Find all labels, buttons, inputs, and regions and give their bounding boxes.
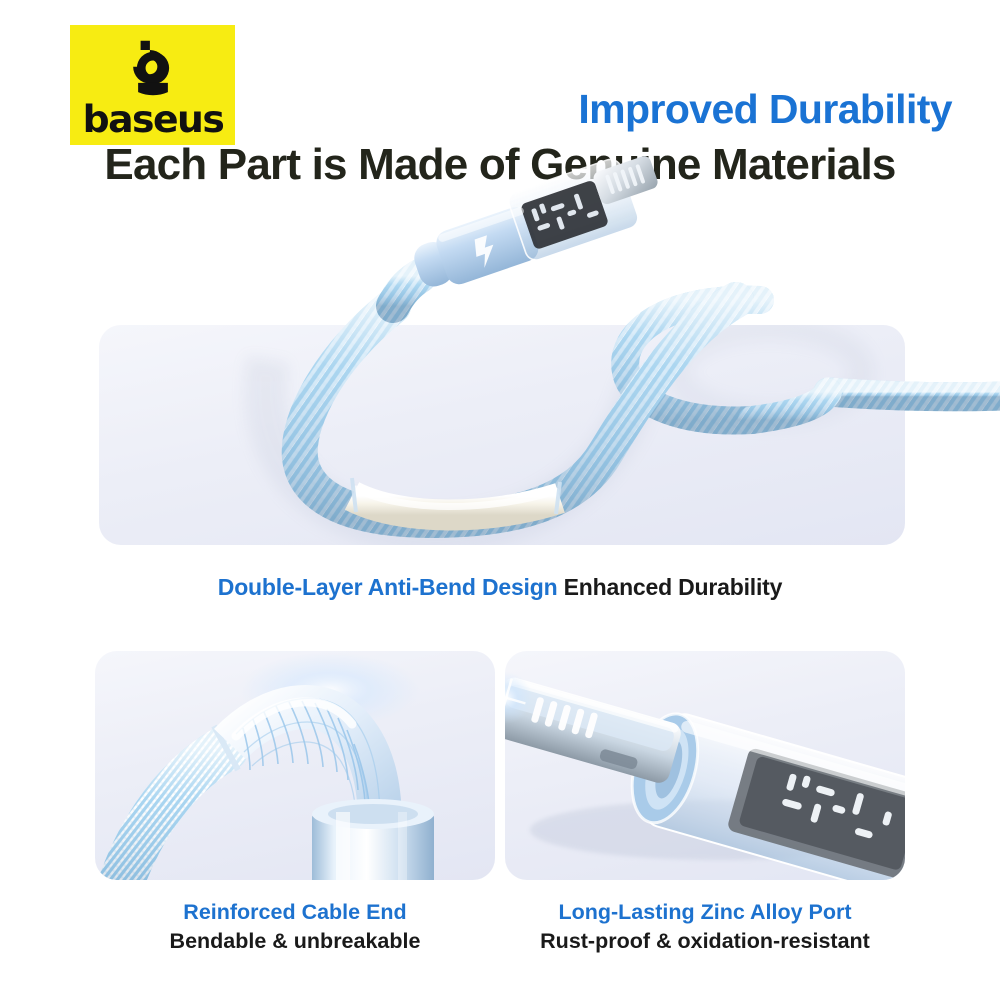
- double-layer-card: [99, 325, 905, 545]
- reinforced-end-card: [95, 651, 495, 880]
- caption-rest: Enhanced Durability: [564, 574, 783, 600]
- caption-zinc-alloy-port: Long-Lasting Zinc Alloy Port Rust-proof …: [505, 898, 905, 956]
- page-title: Each Part is Made of Genuine Materials: [0, 140, 1000, 190]
- caption-title: Reinforced Cable End: [95, 898, 495, 927]
- baseus-b-logo-icon: [122, 37, 184, 99]
- baseus-wordmark: baseus: [82, 101, 223, 138]
- header-eyebrow: Improved Durability: [578, 86, 952, 133]
- page-header: baseus Improved Durability Each Part is …: [0, 0, 1000, 200]
- caption-highlight: Double-Layer Anti-Bend Design: [218, 574, 558, 600]
- baseus-logo: baseus: [70, 25, 235, 145]
- caption-subtitle: Bendable & unbreakable: [95, 927, 495, 956]
- caption-subtitle: Rust-proof & oxidation-resistant: [505, 927, 905, 956]
- caption-reinforced-end: Reinforced Cable End Bendable & unbreaka…: [95, 898, 495, 956]
- zinc-alloy-port-card: [505, 651, 905, 880]
- caption-title: Long-Lasting Zinc Alloy Port: [505, 898, 905, 927]
- shell-chevron-icon: [939, 809, 966, 834]
- caption-double-layer: Double-Layer Anti-Bend Design Enhanced D…: [0, 574, 1000, 601]
- lightning-bolt-icon: [471, 234, 500, 269]
- connector-housing: [433, 204, 542, 288]
